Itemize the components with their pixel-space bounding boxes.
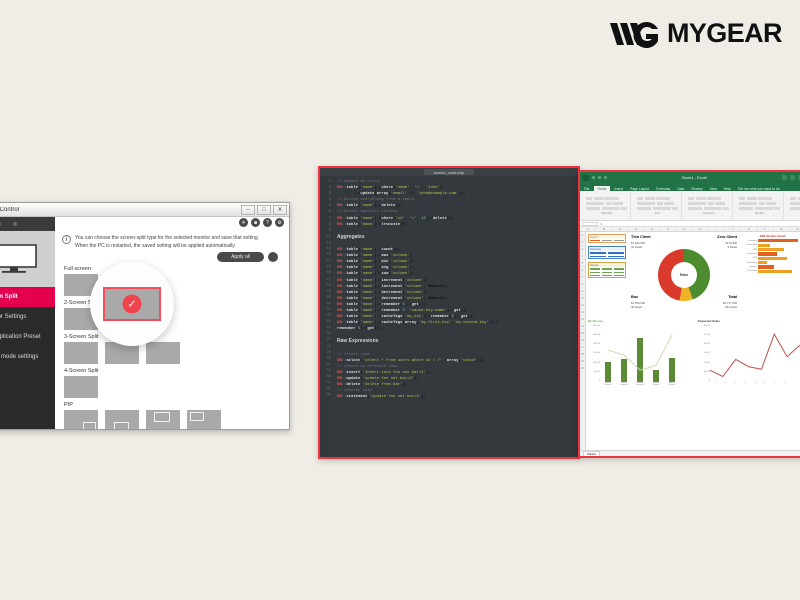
hbar-chart-title: $2B Monitor Deals — [742, 234, 800, 238]
column-header[interactable]: F — [661, 227, 677, 231]
line-chart-panel: Expected Sales 60,00050,00040,00030,0002… — [698, 319, 800, 391]
notice-text: You can choose the screen-split type for… — [75, 235, 270, 250]
code-editor-window[interactable]: source_code.php 123456789101112131415161… — [318, 166, 580, 459]
bar-chart-overlay-line — [600, 327, 680, 375]
horizontal-bar-chart: $2B Monitor Deals Licensing Consulting H… — [742, 234, 800, 316]
settings-gear-icon[interactable]: ⚙ — [275, 218, 284, 227]
kpi-value: $4,377,000 — [723, 301, 737, 305]
row-header[interactable]: 4 — [580, 253, 585, 260]
hbar — [758, 257, 787, 260]
excel-dashboard: Report Summary Results — [586, 232, 800, 450]
excel-logo-icon — [583, 175, 589, 181]
brightness-icon[interactable]: ☀ — [239, 218, 248, 227]
row-header[interactable]: 11 — [580, 302, 585, 309]
ribbon-group-number[interactable]: Number — [736, 193, 784, 219]
screenshot-root: MYGEAR Screen Control – □ ✕ — [0, 0, 800, 600]
undo-icon[interactable] — [598, 176, 601, 179]
mini-table-summary: Summary — [588, 246, 626, 259]
bar-chart-y-axis: 300,000250,000200,000150,000100,00050,00… — [588, 325, 600, 382]
screen-control-sidebar: Screen Split Monitor Settings My Applica… — [0, 217, 55, 429]
row-header[interactable]: 1 — [580, 232, 585, 239]
code-content[interactable]: // Update an entryDB::table('name')->whe… — [333, 176, 578, 457]
bar-chart-title: By Person — [588, 319, 694, 323]
code-line-numbers: 1234567891011121314151617181920212223242… — [320, 176, 333, 457]
brand-logo: MYGEAR — [608, 18, 782, 49]
hbar — [758, 261, 767, 264]
screen-control-notice: i You can choose the screen-split type f… — [62, 235, 282, 250]
group-label-3-screen-split: 3-Screen Split — [64, 334, 282, 340]
sheet-tab[interactable]: Sheet1 — [583, 451, 600, 457]
column-header[interactable]: N — [790, 227, 800, 231]
row-header[interactable]: 14 — [580, 323, 585, 330]
row-header[interactable]: 19 — [580, 358, 585, 365]
layout-row-pip — [64, 410, 282, 429]
column-header[interactable]: B — [596, 227, 612, 231]
bar-chart-panel: By Person 300,000250,000200,000150,00010… — [588, 319, 694, 391]
kpi-sub: 100 Deals — [724, 305, 737, 309]
maximize-icon[interactable]: □ — [257, 205, 271, 215]
row-header[interactable]: 7 — [580, 274, 585, 281]
code-editor-area[interactable]: 1234567891011121314151617181920212223242… — [320, 176, 578, 457]
group-label-pip: PIP — [64, 402, 282, 408]
check-circle-icon: ✓ — [123, 295, 142, 314]
hbar-row: Consulting — [742, 270, 800, 273]
ribbon-group-font[interactable]: Font — [634, 193, 682, 219]
kpi-sub: 9 Deals — [728, 245, 737, 249]
info-icon: i — [62, 235, 71, 244]
layout-thumb-pip-top-center[interactable] — [146, 410, 180, 429]
ribbon-group-clipboard[interactable]: Clipboard — [583, 193, 631, 219]
hbar — [758, 239, 798, 242]
column-header[interactable]: M — [774, 227, 790, 231]
column-header[interactable]: A — [580, 227, 596, 231]
hbar-row: Service — [742, 265, 800, 268]
mini-table-report: Report — [588, 234, 626, 243]
screen-control-title: Screen Control — [0, 207, 241, 213]
bar-chart-x-axis: Alex FerreraMark DowsonThomas MooneyMari… — [600, 382, 680, 391]
hbar-rows: Licensing Consulting HW Consulting HW Co… — [742, 239, 800, 273]
selected-layout-magnifier: ✓ — [90, 262, 174, 346]
screen-control-nav: Screen Split Monitor Settings My Applica… — [0, 287, 55, 367]
layout-row-4split — [64, 376, 282, 398]
layout-thumb-pip-top-left[interactable] — [187, 410, 221, 429]
monitor-icon — [0, 244, 37, 274]
minimize-icon[interactable] — [782, 175, 787, 180]
kpi-thin-client: Thin Client $1,944,500 43 Deals — [631, 235, 651, 250]
row-header[interactable]: 2 — [580, 239, 585, 246]
hbar-row: HW — [742, 257, 800, 260]
kpi-zero-client: Zero Client $178,500 9 Deals — [717, 235, 737, 250]
kpi-value: $178,500 — [725, 241, 737, 245]
hbar-row: Consulting — [742, 261, 800, 264]
group-label-4-screen-split: 4-Screen Split — [64, 368, 282, 374]
excel-document-title: Book1 - Excel — [610, 175, 779, 180]
help-icon[interactable]: ? — [263, 218, 272, 227]
redo-icon[interactable] — [604, 176, 607, 179]
column-header[interactable]: K — [741, 227, 757, 231]
line-chart-x-axis: 12345678 — [710, 382, 790, 391]
hbar-row: Consulting — [742, 252, 800, 255]
column-header[interactable]: I — [709, 227, 725, 231]
screen-control-toolbar: ☀ ■ ? ⚙ — [239, 218, 284, 227]
column-header[interactable]: L — [758, 227, 774, 231]
layout-thumb-pip-bottom-center[interactable] — [105, 410, 139, 429]
row-header[interactable]: 18 — [580, 351, 585, 358]
mini-table-results: Results — [588, 262, 626, 278]
apply-all-button[interactable]: Apply all — [217, 252, 264, 262]
excel-ribbon-tabs[interactable]: FileHomeInsertPage LayoutFormulasDataRev… — [580, 183, 800, 191]
hbar — [758, 252, 777, 255]
screen-control-main: ☀ ■ ? ⚙ i You can choose the screen-spli… — [55, 217, 289, 429]
hbar-row: Consulting — [742, 244, 800, 247]
column-header[interactable]: G — [677, 227, 693, 231]
excel-inner: Book1 - Excel FileHomeInsertPage LayoutF… — [580, 172, 800, 456]
excel-titlebar[interactable]: Book1 - Excel — [580, 172, 800, 183]
kpi-sub: 43 Deals — [631, 245, 642, 249]
excel-window[interactable]: Book1 - Excel FileHomeInsertPage LayoutF… — [578, 170, 800, 458]
row-header[interactable]: 20 — [580, 365, 585, 372]
hbar — [758, 265, 774, 268]
ribbon-group-alignment[interactable]: Alignment — [685, 193, 733, 219]
kpi-value: $1,554,000 — [631, 301, 645, 305]
sidebar-item-monitor-settings[interactable]: Monitor Settings — [0, 307, 55, 327]
display-icon[interactable]: ■ — [251, 218, 260, 227]
layout-thumb-pip-bottom-right[interactable] — [64, 410, 98, 429]
sidebar-item-screen-split[interactable]: Screen Split — [0, 287, 55, 307]
layout-thumb-3-left-big[interactable] — [64, 342, 98, 364]
column-header[interactable]: E — [645, 227, 661, 231]
row-header[interactable]: 6 — [580, 267, 585, 274]
excel-status-bar: Sheet1 — [580, 450, 800, 456]
column-header[interactable]: D — [628, 227, 644, 231]
save-icon[interactable] — [592, 176, 595, 179]
kpi-box: Box $1,554,000 48 Deals — [631, 295, 645, 310]
row-header[interactable]: 10 — [580, 295, 585, 302]
dashboard-bottom-section: By Person 300,000250,000200,000150,00010… — [588, 319, 800, 391]
row-header[interactable]: 9 — [580, 288, 585, 295]
kpi-sub: 48 Deals — [631, 305, 642, 309]
close-icon[interactable]: ✕ — [273, 205, 287, 215]
donut-center-label: Ratio — [680, 273, 688, 277]
sidebar-item-game-mode-settings[interactable]: Game mode settings — [0, 347, 55, 367]
code-editor-titlebar[interactable]: source_code.php — [320, 168, 578, 176]
column-header[interactable]: H — [693, 227, 709, 231]
code-editor-tab[interactable]: source_code.php — [424, 169, 475, 175]
fx-icon: fx — [600, 222, 602, 226]
row-header[interactable]: 3 — [580, 246, 585, 253]
window-buttons: – □ ✕ — [241, 205, 287, 215]
sidebar-dot-icon — [0, 222, 1, 226]
layout-thumb-3-col[interactable] — [146, 342, 180, 364]
row-header[interactable]: 13 — [580, 316, 585, 323]
hbar-row: HW — [742, 248, 800, 251]
excel-ribbon[interactable]: ClipboardFontAlignmentNumberStylesCells — [580, 191, 800, 221]
hbar-row: Licensing — [742, 239, 800, 242]
ribbon-group-styles[interactable]: Styles — [787, 193, 800, 219]
name-box[interactable] — [582, 222, 598, 226]
monitor-preview — [0, 231, 55, 287]
line-chart-y-axis: 60,00050,00040,00030,00020,00010,0000 — [698, 325, 710, 382]
sidebar-item-my-application-preset[interactable]: My Application Preset — [0, 327, 55, 347]
restore-icon[interactable] — [790, 175, 795, 180]
dashboard-top-section: Report Summary Results — [588, 234, 800, 316]
sidebar-dot-icon — [13, 222, 17, 226]
kpi-total: Total $4,377,000 100 Deals — [723, 295, 737, 310]
row-header[interactable]: 12 — [580, 309, 585, 316]
hbar — [758, 270, 792, 273]
column-header[interactable]: C — [612, 227, 628, 231]
magnified-2-col-layout[interactable]: ✓ — [103, 287, 161, 321]
row-header[interactable]: 8 — [580, 281, 585, 288]
kpi-value: $1,944,500 — [631, 241, 645, 245]
hbar — [758, 248, 784, 251]
excel-window-controls — [782, 175, 800, 180]
hbar — [758, 244, 770, 247]
sidebar-top-dots — [0, 217, 55, 231]
preview-icon[interactable] — [268, 252, 278, 262]
row-header[interactable]: 15 — [580, 330, 585, 337]
mini-tables-column: Report Summary Results — [588, 234, 626, 316]
row-header[interactable]: 16 — [580, 337, 585, 344]
row-header[interactable]: 17 — [580, 344, 585, 351]
apply-row: Apply all — [62, 252, 282, 262]
code-editor-inner: source_code.php 123456789101112131415161… — [320, 168, 578, 457]
layout-row-3split — [64, 342, 282, 364]
row-header[interactable]: 5 — [580, 260, 585, 267]
donut-chart-panel: Thin Client $1,944,500 43 Deals Zero Cli… — [629, 234, 739, 316]
line-chart-line — [710, 327, 800, 381]
screen-control-titlebar[interactable]: Screen Control – □ ✕ — [0, 203, 289, 217]
minimize-icon[interactable]: – — [241, 205, 255, 215]
column-header[interactable]: J — [725, 227, 741, 231]
mygear-logo-mark-icon — [608, 19, 660, 49]
line-chart-title: Expected Sales — [698, 319, 800, 323]
excel-sheet[interactable]: 1234567891011121314151617181920 Report S… — [580, 232, 800, 450]
brand-name: MYGEAR — [667, 18, 782, 49]
group-label-full-screen: Full screen — [64, 266, 282, 272]
layout-thumb-4-grid[interactable] — [64, 376, 98, 398]
